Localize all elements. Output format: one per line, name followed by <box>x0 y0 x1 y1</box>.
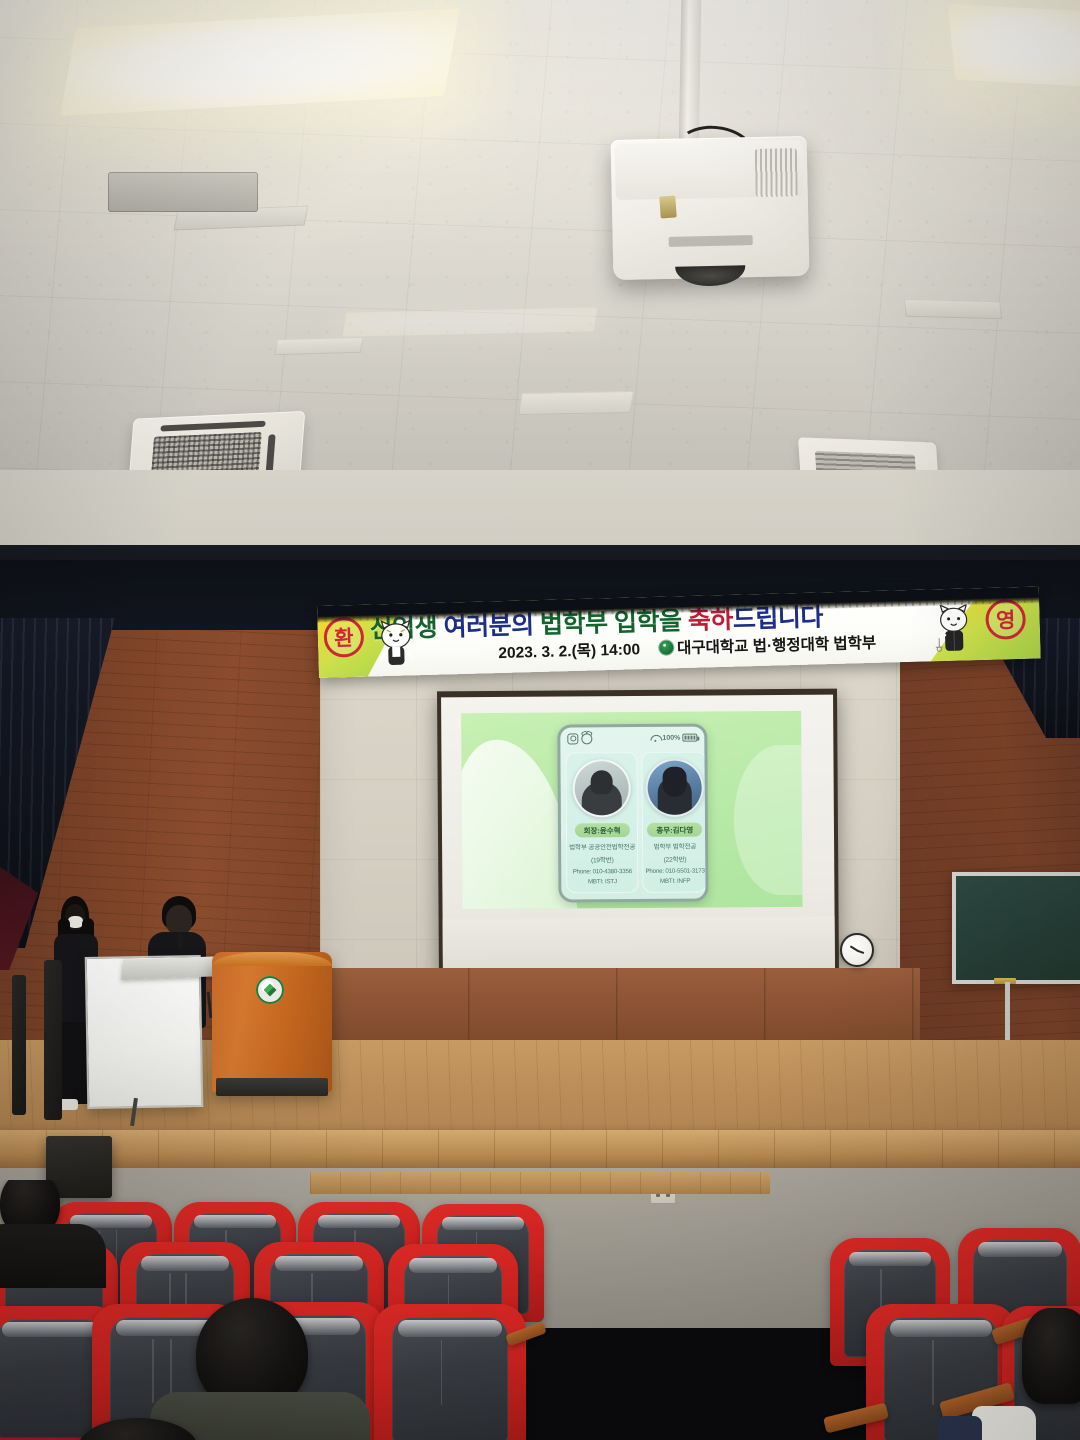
status-bar-right-icons: 100% <box>650 734 697 742</box>
head <box>166 905 192 935</box>
seat-highlight <box>194 1215 277 1228</box>
status-bar-left-icons <box>567 733 592 744</box>
stage-apron-rail <box>310 1172 770 1194</box>
seat-highlight <box>978 1242 1062 1256</box>
profile-card-list: 회장:윤수혁 법학부 공공안전법학전공 (19학번) Phone: 010-43… <box>565 752 700 894</box>
profile-phone: Phone: 010-5501-3173 <box>645 867 704 874</box>
seat-highlight <box>849 1252 931 1266</box>
profile-phone: Phone: 010-4380-3356 <box>573 868 632 875</box>
avatar <box>573 759 631 817</box>
ceiling-projector <box>611 136 810 280</box>
university-emblem-icon <box>658 639 674 655</box>
seat-highlight <box>275 1256 363 1270</box>
battery-percent-label: 100% <box>662 734 680 741</box>
seat[interactable] <box>374 1304 526 1440</box>
lectern-surface <box>121 956 217 979</box>
wifi-icon <box>650 734 660 742</box>
seat-highlight <box>398 1320 501 1336</box>
seat-crease <box>152 1339 154 1403</box>
banner-datetime: 2023. 3. 2.(목) 14:00 <box>498 637 640 663</box>
seat-highlight <box>442 1217 525 1230</box>
ceiling-light-panel <box>947 4 1080 88</box>
profile-mbti: MBTI: INFP <box>660 878 690 885</box>
stage-lower-wood-wall <box>320 968 920 1046</box>
projector-port-panel <box>108 172 258 212</box>
profile-major: 법학부 공공안전법학전공 <box>569 841 635 851</box>
photo-icon <box>567 733 578 744</box>
auditorium-photo-scene: 신입생 여러분의 법학부 입학을 축하드립니다 2023. 3. 2.(목) 1… <box>0 0 1080 1440</box>
university-emblem-icon <box>256 976 284 1004</box>
phone-side-button <box>707 822 709 846</box>
projector-brand-label <box>669 235 753 247</box>
avatar <box>645 759 703 817</box>
slide-decor-shape <box>733 745 802 896</box>
green-chalkboard <box>952 872 1080 984</box>
slide-phone-mockup: 100% 회장:윤수혁 법학부 공공안전법학전공 (19학번) Phone: 0… <box>557 724 708 903</box>
phone-side-button <box>707 770 709 786</box>
attendee-head <box>1022 1308 1080 1404</box>
microphone <box>178 934 183 950</box>
projection-screen-frame: 100% 회장:윤수혁 법학부 공공안전법학전공 (19학번) Phone: 0… <box>437 689 839 980</box>
screen-blank-area <box>443 917 835 976</box>
speaker-stand <box>44 960 62 1120</box>
face-mask <box>68 916 83 928</box>
tiger-mascot-icon <box>373 619 418 672</box>
ceiling-vent <box>904 299 1002 320</box>
profile-role-chip: 총무:김다영 <box>647 823 702 837</box>
projector-connector <box>659 195 676 218</box>
seat-highlight <box>141 1256 229 1270</box>
projector-exhaust-grille <box>755 148 798 197</box>
podium-base <box>216 1078 328 1096</box>
profile-year: (19학번) <box>591 854 614 864</box>
profile-card: 회장:윤수혁 법학부 공공안전법학전공 (19학번) Phone: 010-43… <box>565 752 638 894</box>
ceiling-vent <box>518 391 634 415</box>
profile-card: 총무:김다영 법학부 법학전공 (22학번) Phone: 010-5501-3… <box>642 752 708 893</box>
seat-highlight <box>890 1320 992 1336</box>
attendee-garment <box>938 1416 982 1440</box>
tiger-judge-mascot-icon <box>931 604 976 657</box>
wooden-podium <box>212 952 332 1092</box>
wood-panel-seams <box>320 968 920 1046</box>
projected-slide: 100% 회장:윤수혁 법학부 공공안전법학전공 (19학번) Phone: 0… <box>461 711 802 909</box>
profile-major: 법학부 법학전공 <box>654 840 697 850</box>
ac-vent-blade <box>160 421 265 432</box>
seat-highlight <box>318 1215 401 1228</box>
alarm-clock-icon <box>581 733 592 744</box>
profile-year: (22학번) <box>664 854 687 864</box>
attendee-shoulders <box>0 1224 106 1288</box>
speaker-stand <box>12 975 26 1115</box>
profile-role-chip: 회장:윤수혁 <box>575 823 630 837</box>
profile-mbti: MBTI: ISTJ <box>588 878 617 885</box>
seat-highlight <box>409 1258 497 1272</box>
audience-seating <box>0 1180 1080 1440</box>
phone-side-button <box>707 792 709 816</box>
phone-status-bar: 100% <box>560 727 704 750</box>
seat-crease <box>932 1340 934 1405</box>
battery-icon <box>682 734 697 742</box>
wall-clock <box>840 933 874 967</box>
ceiling-vent <box>274 337 363 355</box>
seat-highlight <box>2 1322 97 1338</box>
